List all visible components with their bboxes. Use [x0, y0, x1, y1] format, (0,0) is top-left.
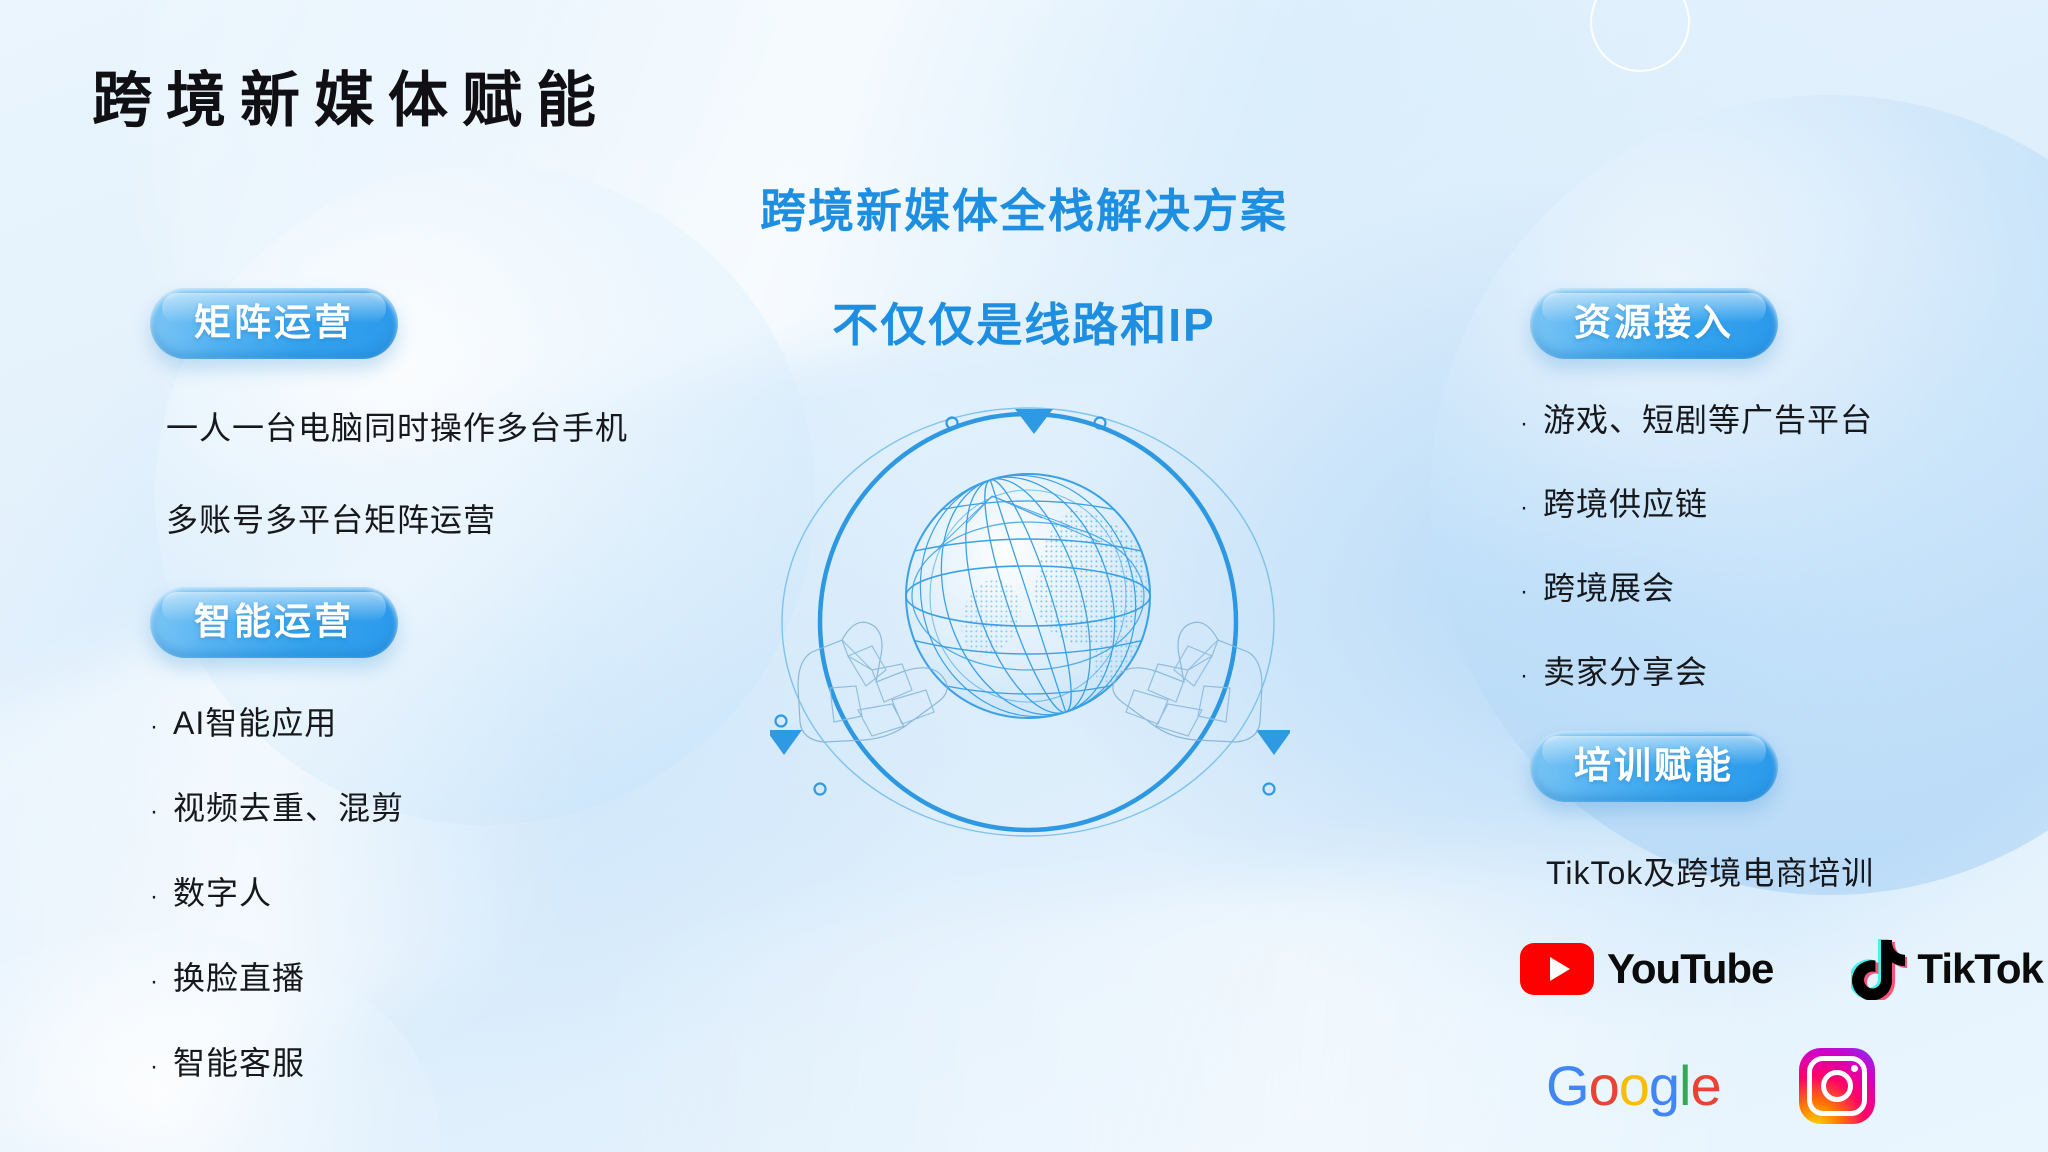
- training-description: TikTok及跨境电商培训: [1546, 848, 2040, 894]
- google-letter-o1: o: [1589, 1054, 1619, 1117]
- bullet-dot-icon: ·: [1520, 496, 1529, 520]
- bullet-dot-icon: ·: [1520, 580, 1529, 604]
- list-item: · 视频去重、混剪: [150, 783, 710, 829]
- google-letter-o2: o: [1619, 1054, 1649, 1117]
- badge-smart-operation[interactable]: 智能运营: [150, 587, 398, 658]
- matrix-line-1: 一人一台电脑同时操作多台手机: [150, 403, 710, 449]
- instagram-logo[interactable]: [1799, 1048, 1875, 1124]
- bullet-dot-icon: ·: [150, 800, 159, 824]
- bullet-dot-icon: ·: [150, 885, 159, 909]
- badge-label: 矩阵运营: [194, 302, 354, 343]
- list-item: · 跨境供应链: [1520, 479, 2040, 525]
- page-title: 跨境新媒体赋能: [92, 52, 610, 139]
- google-letter-g1: G: [1546, 1054, 1589, 1117]
- list-item-label: 游戏、短剧等广告平台: [1543, 395, 1873, 441]
- matrix-operation-lines: 一人一台电脑同时操作多台手机 多账号多平台矩阵运营: [150, 403, 710, 541]
- smart-operation-bullets: · AI智能应用 · 视频去重、混剪 · 数字人 · 换脸直播 · 智能客服: [150, 698, 710, 1084]
- logo-row-1: YouTube TikTok: [1520, 938, 2040, 1000]
- list-item-label: 换脸直播: [173, 953, 305, 999]
- badge-label: 资源接入: [1574, 302, 1734, 343]
- bullet-dot-icon: ·: [1520, 412, 1529, 436]
- bullet-dot-icon: ·: [150, 1055, 159, 1079]
- list-item: · 跨境展会: [1520, 563, 2040, 609]
- google-letter-l: l: [1679, 1054, 1690, 1117]
- list-item: · AI智能应用: [150, 698, 710, 744]
- center-heading-primary: 跨境新媒体全栈解决方案: [640, 175, 1408, 241]
- bullet-dot-icon: ·: [150, 715, 159, 739]
- tiktok-logo[interactable]: TikTok: [1851, 938, 2042, 1000]
- globe-in-hands-illustration: [770, 400, 1290, 870]
- list-item-label: 数字人: [173, 868, 272, 914]
- badge-training-empowerment[interactable]: 培训赋能: [1530, 731, 1778, 802]
- slide-root: 跨境新媒体赋能 跨境新媒体全栈解决方案 不仅仅是线路和IP: [0, 0, 2048, 1152]
- badge-resource-access[interactable]: 资源接入: [1530, 288, 1778, 359]
- youtube-play-icon: [1520, 943, 1594, 995]
- center-heading-secondary: 不仅仅是线路和IP: [640, 289, 1408, 355]
- list-item-label: 视频去重、混剪: [173, 783, 404, 829]
- training-badge-wrap: 培训赋能: [1520, 731, 2040, 802]
- bullet-dot-icon: ·: [1520, 664, 1529, 688]
- google-logo[interactable]: Google: [1546, 1058, 1721, 1114]
- list-item: · 游戏、短剧等广告平台: [1520, 395, 2040, 441]
- center-headings: 跨境新媒体全栈解决方案 不仅仅是线路和IP: [640, 175, 1408, 355]
- badge-label: 智能运营: [194, 601, 354, 642]
- left-column: 矩阵运营 一人一台电脑同时操作多台手机 多账号多平台矩阵运营 智能运营 · AI…: [150, 288, 710, 1123]
- resource-access-bullets: · 游戏、短剧等广告平台 · 跨境供应链 · 跨境展会 · 卖家分享会: [1520, 395, 2040, 693]
- tiktok-note-icon: [1851, 938, 1907, 1000]
- list-item-label: 智能客服: [173, 1038, 305, 1084]
- list-item: · 智能客服: [150, 1038, 710, 1084]
- list-item: · 卖家分享会: [1520, 647, 2040, 693]
- right-column: 资源接入 · 游戏、短剧等广告平台 · 跨境供应链 · 跨境展会 · 卖家分享会…: [1520, 288, 2040, 1124]
- list-item-label: 跨境供应链: [1543, 479, 1708, 525]
- list-item-label: 跨境展会: [1543, 563, 1675, 609]
- instagram-flash-dot-icon: [1851, 1065, 1858, 1072]
- list-item: · 数字人: [150, 868, 710, 914]
- youtube-logo[interactable]: YouTube: [1520, 943, 1773, 995]
- badge-label: 培训赋能: [1574, 745, 1734, 786]
- youtube-wordmark: YouTube: [1607, 945, 1773, 993]
- badge-matrix-operation[interactable]: 矩阵运营: [150, 288, 398, 359]
- tiktok-wordmark: TikTok: [1917, 945, 2042, 993]
- background-ring-outline: [1590, 0, 1690, 72]
- list-item-label: AI智能应用: [173, 698, 337, 744]
- google-letter-g2: g: [1649, 1054, 1679, 1117]
- google-letter-e: e: [1690, 1054, 1720, 1117]
- smart-operation-badge-wrap: 智能运营: [150, 587, 710, 658]
- logo-row-2: Google: [1546, 1048, 2040, 1124]
- instagram-camera-icon: [1807, 1056, 1867, 1116]
- list-item: · 换脸直播: [150, 953, 710, 999]
- matrix-line-2: 多账号多平台矩阵运营: [150, 495, 710, 541]
- bullet-dot-icon: ·: [150, 970, 159, 994]
- list-item-label: 卖家分享会: [1543, 647, 1708, 693]
